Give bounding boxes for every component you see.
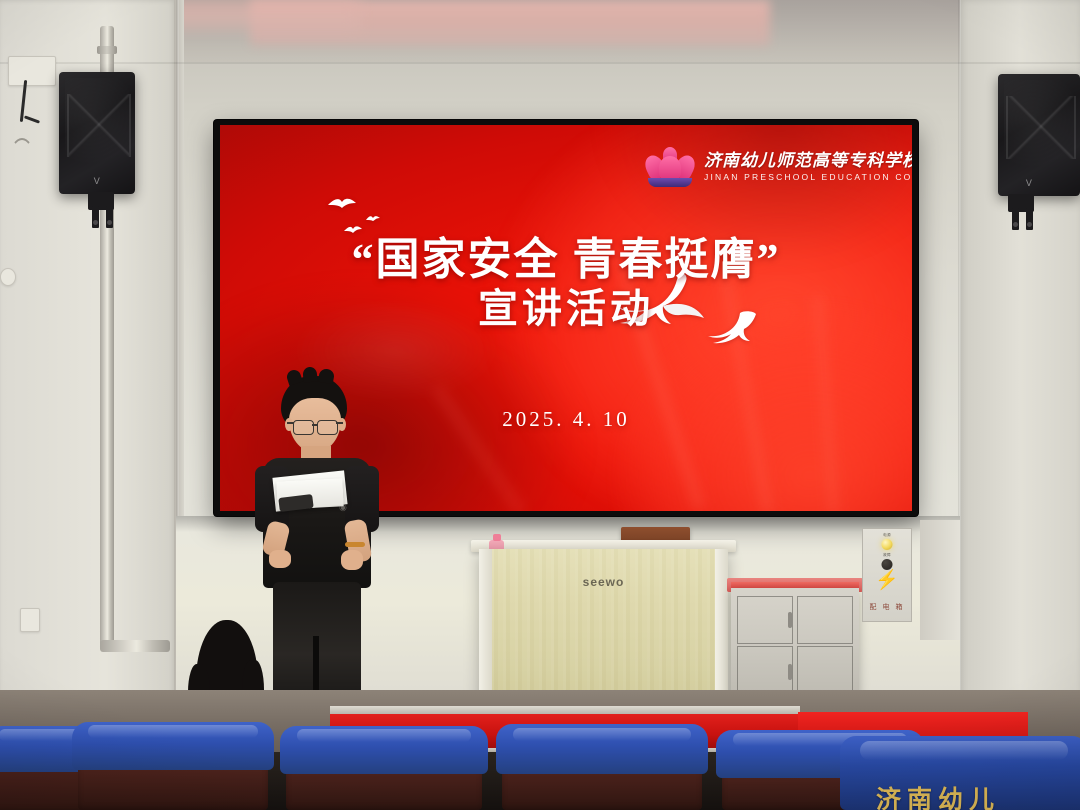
college-logo: 济南幼儿师范高等专科学校 JINAN PRESCHOOL EDUCATION C… xyxy=(644,147,912,187)
wall-outlet xyxy=(20,608,40,632)
speaker-brand-left: V xyxy=(94,176,101,186)
dove-tiny-2 xyxy=(344,225,362,235)
glasses-lens-right xyxy=(317,420,338,435)
dove-tiny-3 xyxy=(366,215,380,223)
power-indicator-lamp-off xyxy=(882,559,893,570)
high-voltage-bolt-icon: ⚡ xyxy=(875,571,899,590)
seat-cushion-2 xyxy=(280,726,488,774)
wall-knob xyxy=(0,268,16,286)
power-lamp-label-bottom: 故障 xyxy=(883,553,891,558)
lotus-emblem-icon xyxy=(644,147,696,187)
wall-hook xyxy=(10,138,34,186)
dove-tiny-1 xyxy=(327,196,357,211)
wall-trim-line xyxy=(0,62,1080,64)
power-indicator-lamp-on xyxy=(882,539,893,550)
stage-lip xyxy=(330,706,800,714)
cabinet-handle-top[interactable] xyxy=(788,612,792,628)
speaker-mount-leg-left-a xyxy=(92,206,99,228)
speaker-mount-leg-right-a xyxy=(1012,208,1019,230)
title-line-2: 宣讲活动 xyxy=(220,284,912,334)
glasses-arm-left xyxy=(287,422,294,424)
glasses-bridge xyxy=(312,424,317,426)
speaker-brand-right: V xyxy=(1026,178,1033,188)
presenter-hand-right xyxy=(341,550,363,570)
seat-cushion-highlight-1 xyxy=(88,725,258,737)
wall-junction-box xyxy=(8,56,56,86)
seat-cushion-highlight-2 xyxy=(297,729,472,741)
power-box-caption: 配 电 箱 xyxy=(870,602,905,612)
wall-speaker-right: V xyxy=(998,74,1080,196)
speaker-vee-pattern-left xyxy=(67,94,132,157)
college-name-en: JINAN PRESCHOOL EDUCATION COLLEGE xyxy=(704,173,912,182)
presenter-hair-spike-b xyxy=(302,367,317,383)
seat-cushion-5: 济南幼儿 xyxy=(840,736,1080,810)
glasses-lens-left xyxy=(293,420,314,435)
speaker-mount-leg-right-b xyxy=(1026,208,1033,230)
screen-title: “国家安全 青春挺膺” 宣讲活动 xyxy=(220,237,912,334)
seat-cushion-highlight-5 xyxy=(860,741,1068,760)
presenter-bracelet xyxy=(345,542,365,547)
seat-cushion-highlight-3 xyxy=(513,728,691,741)
title-line-1: “国家安全 青春挺膺” xyxy=(220,237,912,284)
cabinet-door-top-right[interactable] xyxy=(797,596,853,644)
wall-pipe-horizontal xyxy=(100,640,170,652)
glasses-arm-right xyxy=(336,422,343,424)
seat-cushion-1 xyxy=(72,722,274,770)
cabinet-door-top-left[interactable] xyxy=(737,596,793,644)
power-lamp-label-top: 电源 xyxy=(883,533,891,538)
presenter-ear-left xyxy=(285,418,293,431)
college-name-cn: 济南幼儿师范高等专科学校 xyxy=(704,152,912,169)
equipment-cabinet xyxy=(731,588,859,706)
seat-cushion-3 xyxy=(496,724,708,774)
speaker-mount-leg-left-b xyxy=(106,206,113,228)
power-distribution-box: 电源 故障 ⚡ 配 电 箱 xyxy=(862,528,912,622)
presenter-ear-right xyxy=(338,418,346,431)
pipe-band-upper xyxy=(97,46,117,54)
podium-brand-label: seewo xyxy=(583,575,625,589)
seat-embroidered-text: 济南幼儿 xyxy=(876,780,1000,810)
wall-speaker-left: V xyxy=(59,72,135,194)
wall-side-plate xyxy=(920,520,960,640)
lotus-base xyxy=(648,178,692,187)
cabinet-handle-bottom[interactable] xyxy=(788,664,792,680)
speaker-vee-pattern-right xyxy=(1006,96,1076,159)
presenter-hand-left xyxy=(269,550,291,568)
auditorium-scene: V V xyxy=(0,0,1080,810)
bottle-cap xyxy=(493,534,501,541)
